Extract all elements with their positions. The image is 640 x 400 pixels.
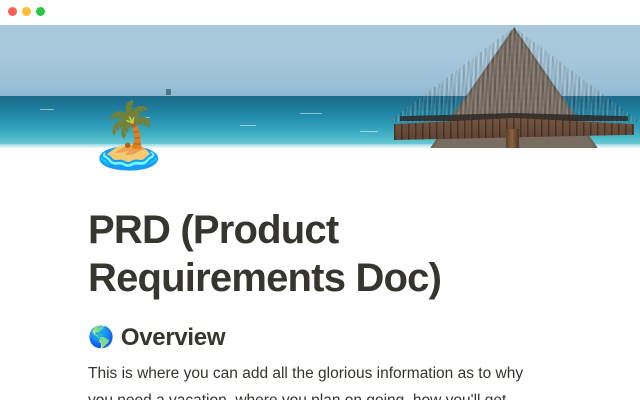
- document-body: PRD (Product Requirements Doc) 🌎 Overvie…: [0, 148, 640, 400]
- cover-water-sparkle: [40, 109, 54, 110]
- window-controls: [8, 7, 45, 16]
- cover-water-sparkle: [240, 125, 256, 126]
- cover-water-sparkle: [300, 113, 322, 114]
- section-paragraph-overview[interactable]: This is where you can add all the glorio…: [88, 360, 550, 400]
- section-heading-overview[interactable]: 🌎 Overview: [88, 323, 558, 353]
- close-window-button[interactable]: [8, 7, 17, 16]
- section-heading-label: Overview: [121, 323, 225, 353]
- page-icon-island[interactable]: 🏝️: [89, 99, 161, 171]
- document-window: PRD (Product Requirements Doc) 🌎 Overvie…: [0, 0, 640, 400]
- palapa-post: [506, 129, 519, 148]
- palapa-umbrella: [388, 25, 640, 148]
- globe-icon: 🌎: [88, 323, 114, 353]
- page-title[interactable]: PRD (Product Requirements Doc): [88, 206, 558, 302]
- maximize-window-button[interactable]: [36, 7, 45, 16]
- window-titlebar: [0, 0, 640, 25]
- minimize-window-button[interactable]: [22, 7, 31, 16]
- cover-water-sparkle: [360, 131, 378, 132]
- cover-boat: [166, 89, 171, 95]
